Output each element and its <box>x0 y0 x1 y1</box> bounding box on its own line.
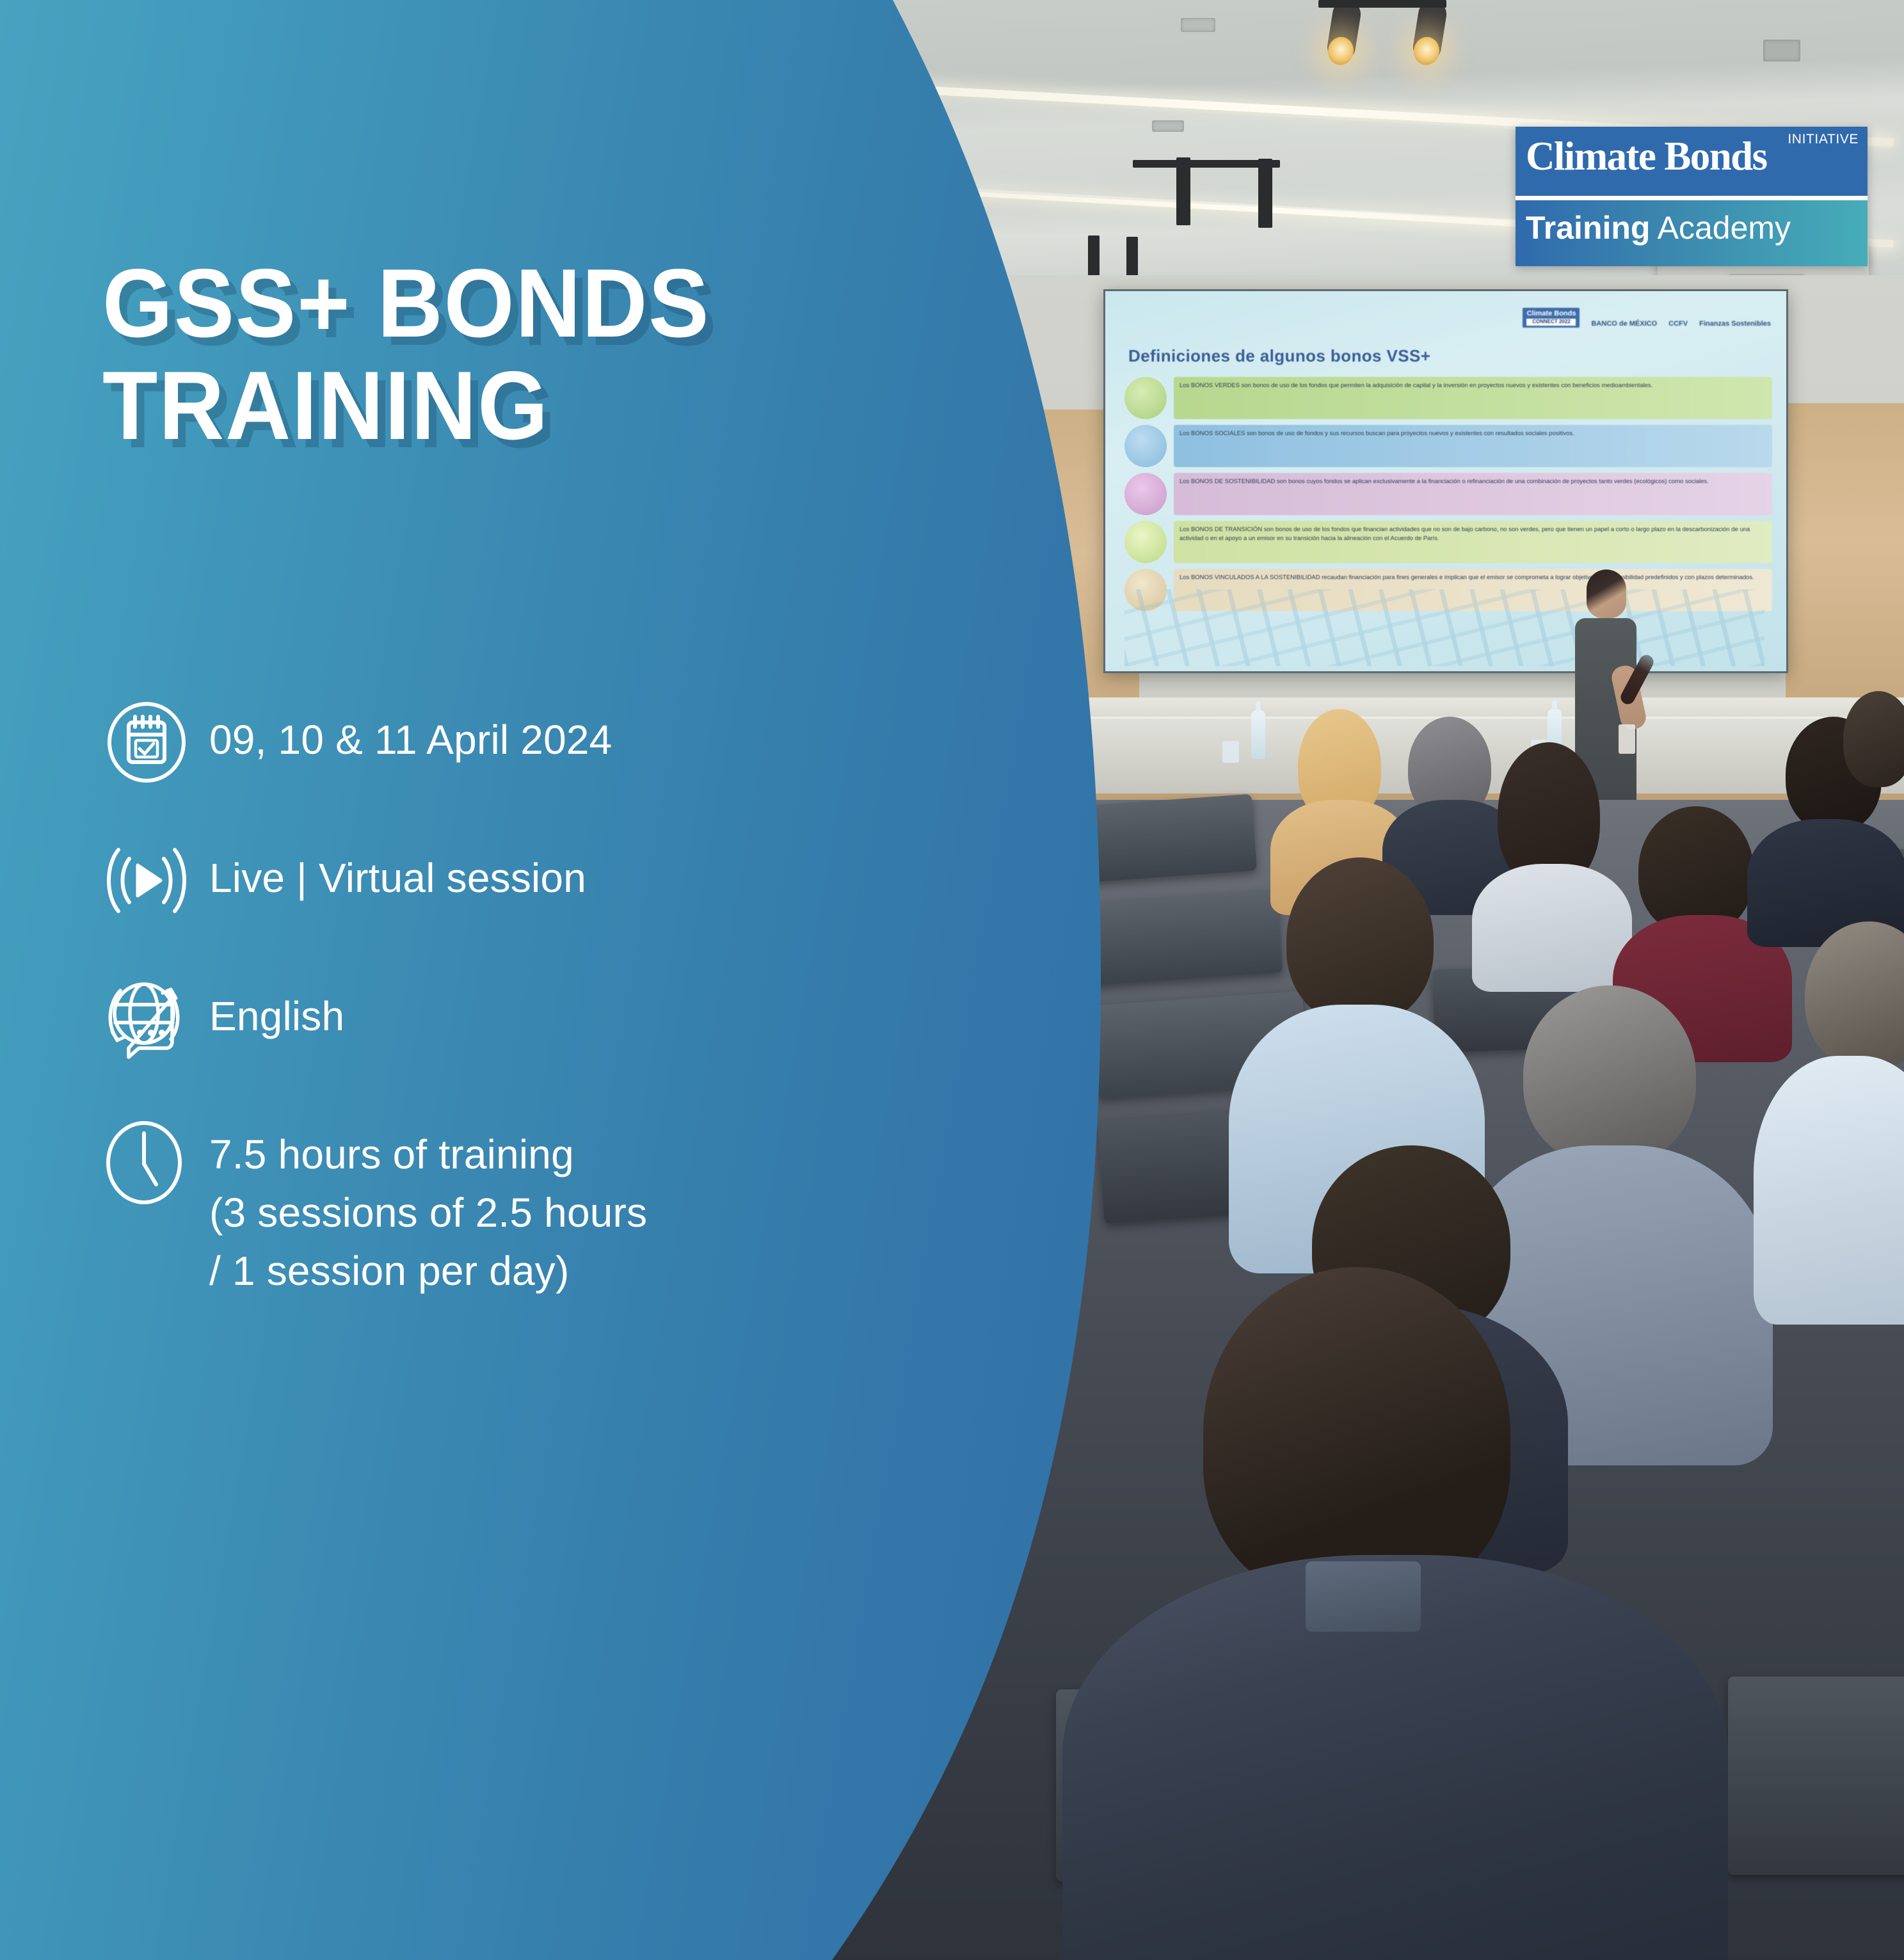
slide-row: Los BONOS DE SOSTENIBILIDAD son bonos cu… <box>1124 473 1772 515</box>
live-broadcast-icon <box>99 839 209 922</box>
logo-brand-text: Climate Bonds <box>1526 133 1767 180</box>
slide-logo-finanzas-sostenibles: Finanzas Sostenibles <box>1699 320 1771 328</box>
poster-content: GSS+ BONDS TRAINING <box>0 0 1216 1960</box>
title-line-1: GSS+ BONDS <box>102 253 936 355</box>
promo-poster: Climate Bonds CONNECT 2022 BANCO de MÉXI… <box>0 0 1904 1960</box>
slide-logo-row: Climate Bonds CONNECT 2022 BANCO de MÉXI… <box>1523 308 1771 328</box>
slide-grid-decoration <box>1124 589 1764 666</box>
audience-torso <box>1472 864 1632 992</box>
speaker-badge <box>1619 724 1635 754</box>
foreground-head <box>1203 1267 1510 1600</box>
shirt-collar <box>1306 1561 1421 1632</box>
detail-text-line: Live | Virtual session <box>209 849 586 907</box>
slide-rows: Los BONOS VERDES son bonos de uso de los… <box>1124 377 1772 617</box>
audience-torso <box>1754 1056 1904 1325</box>
detail-item-language-text: English <box>209 977 344 1046</box>
slide-row: Los BONOS VERDES son bonos de uso de los… <box>1124 377 1772 419</box>
slide-row: Los BONOS SOCIALES son bonos de uso de f… <box>1124 425 1772 467</box>
audience-head <box>1523 985 1696 1165</box>
detail-item-date: 09, 10 & 11 April 2024 <box>99 701 1059 784</box>
page-title: GSS+ BONDS TRAINING <box>102 253 936 457</box>
detail-item-language: English <box>99 977 1059 1060</box>
slide-row-text: Los BONOS DE SOSTENIBILIDAD son bonos cu… <box>1174 473 1772 515</box>
slide-logo-climate-bonds: Climate Bonds CONNECT 2022 <box>1523 308 1580 328</box>
water-bottle <box>1251 710 1265 759</box>
detail-item-date-text: 09, 10 & 11 April 2024 <box>209 701 612 769</box>
logo-initiative-text: INITIATIVE <box>1788 132 1859 147</box>
detail-text-line: 7.5 hours of training <box>209 1126 647 1184</box>
logo-divider <box>1516 196 1868 200</box>
globe-translate-icon <box>99 977 209 1060</box>
detail-list: 09, 10 & 11 April 2024 Live | Virtual se… <box>99 701 1059 1300</box>
detail-item-format: Live | Virtual session <box>99 839 1059 922</box>
title-line-2: TRAINING <box>102 355 936 458</box>
detail-text-line: / 1 session per day) <box>209 1242 647 1300</box>
detail-text-line: 09, 10 & 11 April 2024 <box>209 711 612 769</box>
clock-icon <box>99 1115 209 1199</box>
ceiling-vent <box>1763 40 1800 61</box>
drinking-glass <box>1222 741 1239 763</box>
slide-row-text: Los BONOS SOCIALES son bonos de uso de f… <box>1174 425 1772 467</box>
detail-item-format-text: Live | Virtual session <box>209 839 586 907</box>
slide-row-text: Los BONOS VERDES son bonos de uso de los… <box>1174 377 1772 419</box>
slide-row-text: Los BONOS DE TRANSICIÓN son bonos de uso… <box>1174 521 1772 563</box>
light-rail <box>1318 0 1446 8</box>
audience-head <box>1843 691 1904 787</box>
speaker-head <box>1587 570 1626 618</box>
audience-head <box>1286 857 1434 1024</box>
detail-text-line: (3 sessions of 2.5 hours <box>209 1184 647 1242</box>
slide-row: Los BONOS DE TRANSICIÓN son bonos de uso… <box>1124 521 1772 563</box>
light-rail <box>1258 159 1272 228</box>
slide-logo-banco-de-mexico: BANCO de MÉXICO <box>1591 320 1657 328</box>
detail-item-duration-text: 7.5 hours of training (3 sessions of 2.5… <box>209 1115 647 1300</box>
logo-academy-word: Academy <box>1650 210 1791 246</box>
calendar-check-icon <box>99 701 209 784</box>
detail-item-duration: 7.5 hours of training (3 sessions of 2.5… <box>99 1115 1059 1300</box>
logo-bottom-band: Training Academy <box>1516 200 1868 266</box>
climate-bonds-logo: Climate Bonds INITIATIVE Training Academ… <box>1516 127 1868 266</box>
detail-text-line: English <box>209 987 344 1046</box>
logo-top-band: Climate Bonds INITIATIVE <box>1516 127 1868 196</box>
slide-logo-ccfv: CCFV <box>1668 320 1688 328</box>
logo-academy-text: Training Academy <box>1526 209 1791 246</box>
chair <box>1728 1677 1904 1875</box>
logo-training-word: Training <box>1526 210 1650 246</box>
